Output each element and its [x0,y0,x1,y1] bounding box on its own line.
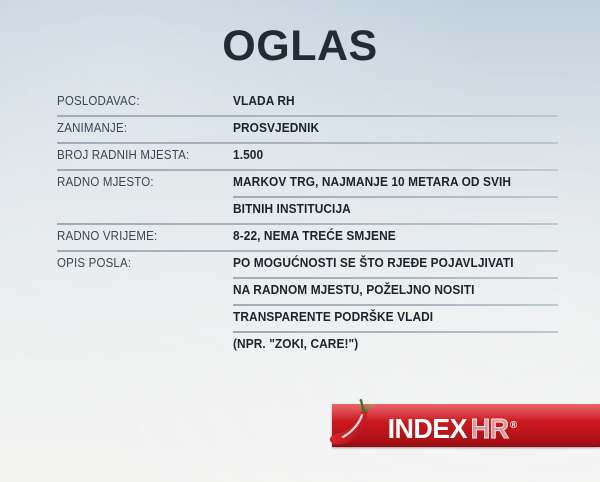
table-row: BITNIH INSTITUCIJA [57,196,558,223]
row-label: POSLODAVAC: [57,88,219,115]
logo-word-index: INDEX [388,407,467,450]
row-value: NA RADNOM MJESTU, POŽELJNO NOSITI [233,277,542,304]
row-value: BITNIH INSTITUCIJA [233,196,542,223]
table-row: (NPR. "ZOKI, CARE!") [57,331,558,358]
table-row: NA RADNOM MJESTU, POŽELJNO NOSITI [57,277,558,304]
row-value: PO MOGUĆNOSTI SE ŠTO RJEĐE POJAVLJIVATI [233,250,542,277]
row-label: RADNO VRIJEME: [57,223,219,250]
logo-wordmark: INDEXHR® [386,404,517,447]
row-label: ZANIMANJE: [57,115,219,142]
table-row: RADNO VRIJEME:8-22, NEMA TREĆE SMJENE [57,223,558,250]
row-value: VLADA RH [233,88,542,115]
job-ad-table: POSLODAVAC:VLADA RHZANIMANJE:PROSVJEDNIK… [57,88,558,358]
table-row: ZANIMANJE:PROSVJEDNIK [57,115,558,142]
table-row: BROJ RADNIH MJESTA:1.500 [57,142,558,169]
row-value: PROSVJEDNIK [233,115,542,142]
row-value: 8-22, NEMA TREĆE SMJENE [233,223,542,250]
row-value: MARKOV TRG, NAJMANJE 10 METARA OD SVIH [233,169,542,196]
row-value: 1.500 [233,142,542,169]
table-row: RADNO MJESTO:MARKOV TRG, NAJMANJE 10 MET… [57,169,558,196]
chili-pepper-icon [324,398,386,454]
row-label: BROJ RADNIH MJESTA: [57,142,219,169]
page-title: OGLAS [0,22,600,70]
table-row: OPIS POSLA:PO MOGUĆNOSTI SE ŠTO RJEĐE PO… [57,250,558,277]
table-row: POSLODAVAC:VLADA RH [57,88,558,115]
row-value: TRANSPARENTE PODRŠKE VLADI [233,304,542,331]
registered-trademark-icon: ® [510,420,517,431]
logo-word-hr: HR [470,407,508,450]
row-value: (NPR. "ZOKI, CARE!") [233,331,542,358]
poster-canvas: OGLAS POSLODAVAC:VLADA RHZANIMANJE:PROSV… [0,0,600,482]
table-row: TRANSPARENTE PODRŠKE VLADI [57,304,558,331]
indexhr-logo[interactable]: INDEXHR® [332,404,600,447]
row-label: RADNO MJESTO: [57,169,219,196]
row-label: OPIS POSLA: [57,250,219,277]
